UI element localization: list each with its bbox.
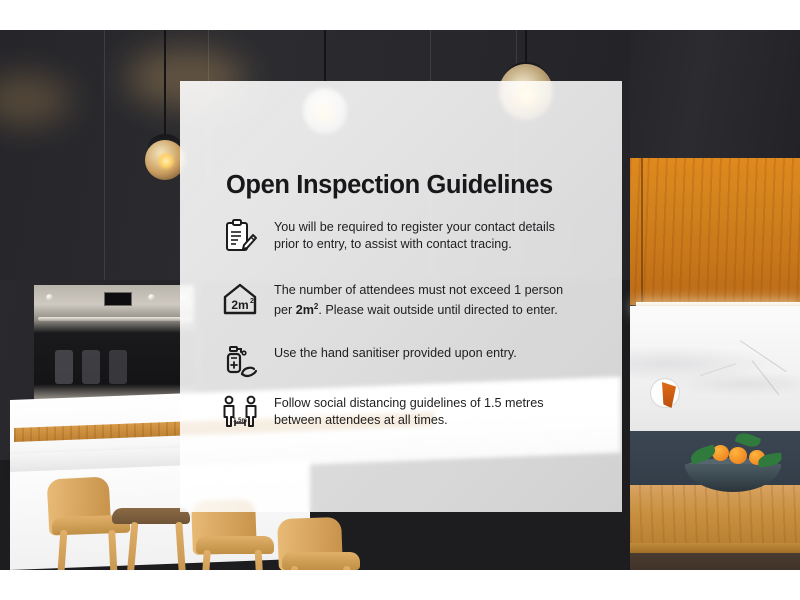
pendant-bulb bbox=[157, 152, 175, 170]
guideline-text: The number of attendees must not exceed … bbox=[274, 280, 563, 318]
distance-label: 1.5m bbox=[233, 418, 247, 424]
guideline-line-2-pre: per bbox=[274, 303, 296, 317]
dark-upper-wall bbox=[630, 30, 800, 158]
area-value: 2m bbox=[296, 303, 314, 317]
oven-display bbox=[104, 292, 132, 306]
timber-upper-cabinets bbox=[630, 155, 800, 305]
guideline-item: 2m 2 The number of attendees must not ex… bbox=[220, 280, 592, 320]
oven-handle[interactable] bbox=[38, 317, 193, 321]
guideline-line-2: prior to entry, to assist with contact t… bbox=[274, 237, 512, 251]
hand-sanitiser-icon bbox=[220, 343, 260, 383]
oven-glass-reflection bbox=[109, 350, 127, 384]
oven-glass-reflection bbox=[82, 350, 100, 384]
kitchen-photo: Open Inspection Guidelines bbox=[0, 30, 800, 570]
bench-cabinet bbox=[630, 553, 800, 570]
oven-knob[interactable] bbox=[148, 294, 155, 301]
guideline-line-2-post: . Please wait outside until directed to … bbox=[318, 303, 557, 317]
guideline-line-1: Use the hand sanitiser provided upon ent… bbox=[274, 346, 517, 360]
orange-fruit bbox=[729, 447, 747, 464]
guideline-line-1: The number of attendees must not exceed … bbox=[274, 283, 563, 297]
clipboard-pencil-icon bbox=[220, 217, 260, 257]
svg-text:2: 2 bbox=[250, 298, 254, 305]
guideline-line-1: Follow social distancing guidelines of 1… bbox=[274, 396, 544, 410]
cabinet-seam bbox=[104, 30, 105, 280]
guideline-item: Use the hand sanitiser provided upon ent… bbox=[220, 343, 592, 383]
guidelines-panel: Open Inspection Guidelines bbox=[180, 81, 622, 512]
guideline-text: Use the hand sanitiser provided upon ent… bbox=[274, 343, 517, 362]
marble-splashback bbox=[630, 306, 800, 431]
bottom-frame-band bbox=[0, 570, 800, 600]
timber-bench bbox=[630, 485, 800, 547]
house-area-2m2-icon: 2m 2 bbox=[220, 280, 260, 320]
social-distancing-icon: 1.5m bbox=[220, 393, 260, 433]
guideline-line-2: between attendees at all times. bbox=[274, 413, 448, 427]
guideline-text: You will be required to register your co… bbox=[274, 217, 555, 252]
screenshot-root: Open Inspection Guidelines bbox=[0, 0, 800, 600]
guideline-item: 1.5m Follow social distancing guidelines… bbox=[220, 393, 592, 433]
guideline-item: You will be required to register your co… bbox=[220, 217, 592, 257]
page-title: Open Inspection Guidelines bbox=[226, 171, 606, 200]
guideline-text: Follow social distancing guidelines of 1… bbox=[274, 393, 544, 428]
oven-glass-reflection bbox=[55, 350, 73, 384]
cabinet-seam bbox=[641, 155, 643, 305]
bench-edge bbox=[630, 543, 800, 553]
oven-knob[interactable] bbox=[46, 294, 53, 301]
pendant-cord bbox=[164, 30, 166, 142]
top-frame-band bbox=[0, 0, 800, 30]
guideline-line-1: You will be required to register your co… bbox=[274, 220, 555, 234]
svg-text:2m: 2m bbox=[231, 298, 248, 312]
